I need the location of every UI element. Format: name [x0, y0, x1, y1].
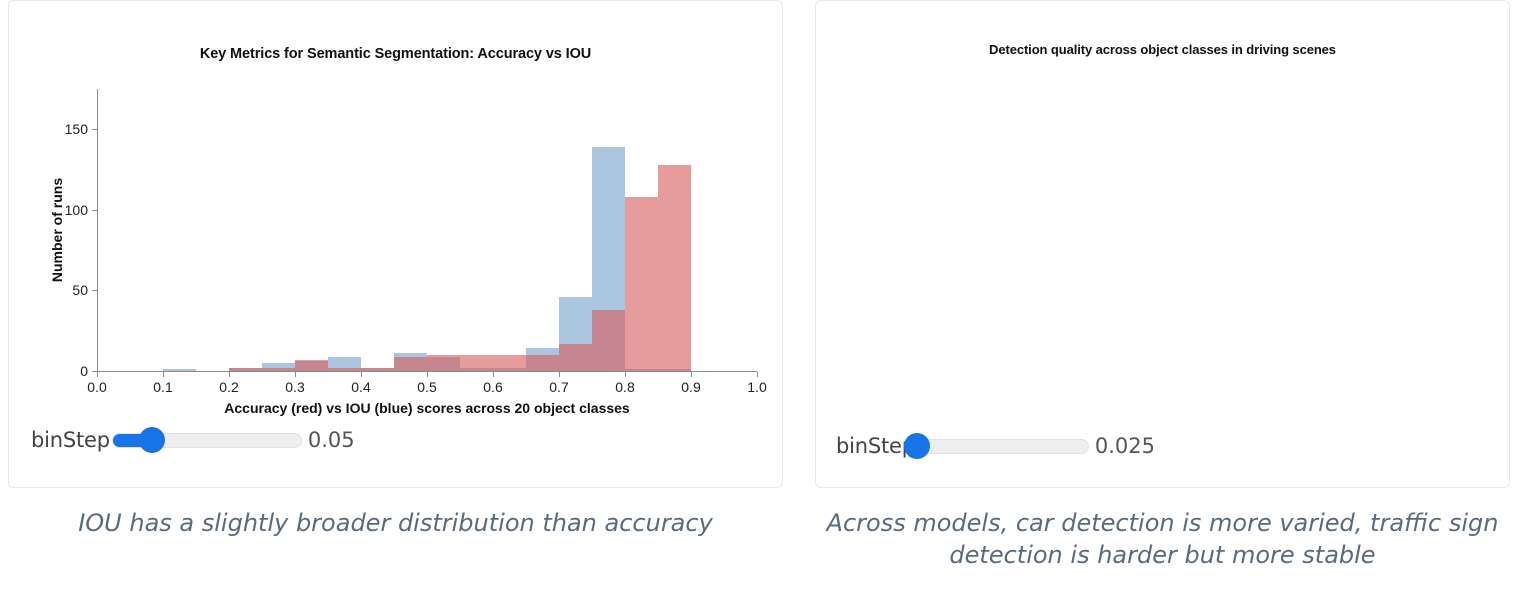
slider-track-right[interactable]	[917, 439, 1089, 454]
histogram-bar	[460, 355, 493, 371]
x-axis-tick-label: 0.2	[219, 379, 238, 395]
panel-caption-left: IOU has a slightly broader distribution …	[8, 508, 783, 540]
binstep-slider-row-right[interactable]: binStep 0.025	[836, 429, 1155, 463]
x-axis-tick	[559, 372, 560, 377]
chart-title-left: Key Metrics for Semantic Segmentation: A…	[9, 46, 782, 62]
x-axis-tick	[163, 372, 164, 377]
histogram-bar	[658, 165, 691, 371]
histogram-plot-left: 0.00.10.20.30.40.50.60.70.80.91.00501001…	[97, 89, 757, 371]
binstep-slider-left[interactable]	[112, 429, 302, 451]
y-axis-tick	[92, 371, 97, 372]
y-axis-tick-label: 100	[65, 202, 88, 218]
x-axis-tick-label: 1.0	[747, 379, 766, 395]
binstep-slider-right[interactable]	[917, 435, 1089, 457]
histogram-bar	[493, 355, 526, 371]
binstep-slider-label-left: binStep	[31, 428, 110, 452]
histogram-bar	[625, 197, 658, 371]
x-axis-tick	[625, 372, 626, 377]
x-axis-title: Accuracy (red) vs IOU (blue) scores acro…	[224, 400, 629, 416]
x-axis-tick-label: 0.6	[483, 379, 502, 395]
histogram-bar	[163, 369, 196, 371]
x-axis-tick-label: 0.8	[615, 379, 634, 395]
y-axis-tick	[92, 210, 97, 211]
y-axis-tick-label: 0	[80, 363, 88, 379]
x-axis-tick-label: 0.7	[549, 379, 568, 395]
x-axis-tick-label: 0.0	[87, 379, 106, 395]
histogram-bar	[559, 344, 592, 371]
y-axis-tick-label: 50	[72, 282, 88, 298]
x-axis-tick	[757, 372, 758, 377]
x-axis-tick	[229, 372, 230, 377]
x-axis-tick	[361, 372, 362, 377]
y-axis-line	[97, 89, 98, 372]
y-axis-tick	[92, 129, 97, 130]
chart-title-right: Detection quality across object classes …	[816, 42, 1509, 57]
histogram-bar	[592, 310, 625, 371]
y-axis-tick-label: 150	[65, 121, 88, 137]
binstep-slider-row-left[interactable]: binStep 0.05	[31, 423, 355, 457]
slider-thumb-right[interactable]	[904, 433, 930, 459]
histogram-bar	[328, 368, 361, 371]
x-axis-tick-label: 0.3	[285, 379, 304, 395]
histogram-bar	[394, 357, 427, 372]
binstep-slider-value-left: 0.05	[308, 428, 355, 452]
x-axis-tick	[97, 372, 98, 377]
dashboard-root: Key Metrics for Semantic Segmentation: A…	[0, 0, 1518, 608]
histogram-bar	[262, 368, 295, 371]
slider-thumb-left[interactable]	[139, 427, 165, 453]
binstep-slider-value-right: 0.025	[1095, 434, 1155, 458]
x-axis-tick	[295, 372, 296, 377]
histogram-bar	[295, 360, 328, 371]
x-axis-tick	[691, 372, 692, 377]
panel-caption-right: Across models, car detection is more var…	[815, 508, 1510, 571]
x-axis-tick	[493, 372, 494, 377]
x-axis-tick-label: 0.4	[351, 379, 370, 395]
chart-card-left: Key Metrics for Semantic Segmentation: A…	[8, 0, 783, 488]
x-axis-tick-label: 0.5	[417, 379, 436, 395]
histogram-bar	[361, 368, 394, 371]
panel-semantic-segmentation: Key Metrics for Semantic Segmentation: A…	[8, 0, 783, 608]
panel-driving-scenes: Detection quality across object classes …	[815, 0, 1510, 608]
x-axis-tick	[427, 372, 428, 377]
histogram-bar	[427, 355, 460, 371]
y-axis-tick	[92, 290, 97, 291]
chart-card-right: Detection quality across object classes …	[815, 0, 1510, 488]
plot-area-left: 0.00.10.20.30.40.50.60.70.80.91.00501001…	[97, 89, 757, 371]
y-axis-title: Number of runs	[49, 178, 65, 282]
x-axis-tick-label: 0.1	[153, 379, 172, 395]
histogram-bar	[526, 355, 559, 371]
histogram-bar	[229, 368, 262, 371]
x-axis-tick-label: 0.9	[681, 379, 700, 395]
